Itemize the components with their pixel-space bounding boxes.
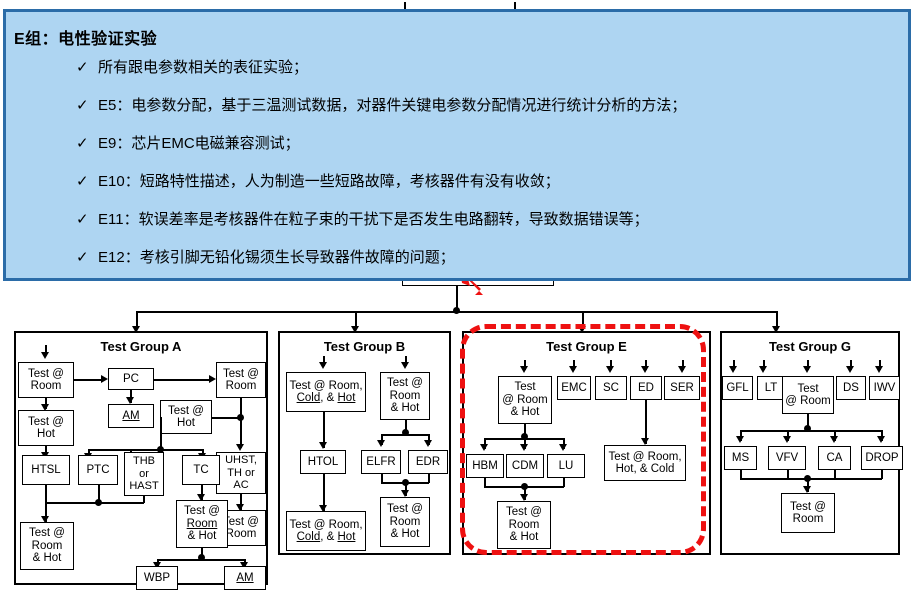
node-a-test-hot-1: Test @ Hot	[18, 410, 74, 446]
arw	[759, 366, 767, 373]
list-item: ✓ E5：电参数分配，基于三温测试数据，对器件关键电参数分配情况进行统计分析的方…	[6, 87, 908, 125]
node-g-test-room-1: Test @ Room	[782, 376, 834, 414]
node-a-htsl: HTSL	[22, 455, 70, 485]
check-icon: ✓	[76, 87, 98, 125]
list-item: ✓ 所有跟电参数相关的表征实验；	[6, 49, 908, 87]
ln	[740, 478, 882, 480]
ln	[88, 449, 204, 451]
node-g-vfv: VFV	[768, 446, 806, 470]
node-e-test-room-hot-cold: Test @ Room, Hot, & Cold	[604, 445, 686, 481]
arw	[101, 375, 108, 383]
node-b-test-room-hot-2: Test @ Room & Hot	[380, 497, 430, 547]
node-label-line: Test @ Room,	[608, 451, 681, 464]
list-item-label: 所有跟电参数相关的表征实验；	[98, 49, 308, 87]
group-a-title: Test Group A	[16, 339, 266, 354]
node-a-thb-hast: THB or HAST	[124, 452, 164, 496]
bus-horizontal	[136, 311, 776, 313]
node-g-iwv: IWV	[869, 376, 900, 400]
arw	[559, 444, 567, 451]
node-g-gfl: GFL	[722, 376, 753, 400]
arw	[641, 366, 649, 373]
arw	[830, 436, 838, 443]
overlay-annotation-panel: E组：电性验证实验 ✓ 所有跟电参数相关的表征实验； ✓ E5：电参数分配，基于…	[3, 9, 911, 281]
node-g-drop: DROP	[861, 446, 903, 470]
arw	[126, 397, 134, 404]
node-a-am-2: AM	[224, 566, 266, 590]
node-label-line: Test @ Room,	[289, 380, 362, 393]
check-icon: ✓	[76, 125, 98, 163]
check-icon: ✓	[76, 239, 98, 277]
panel-heading: E组：电性验证实验	[14, 25, 908, 49]
node-label: AM	[236, 572, 253, 585]
list-item-label: E5：电参数分配，基于三温测试数据，对器件关键电参数分配情况进行统计分析的方法；	[98, 87, 686, 125]
ln	[74, 379, 103, 381]
node-g-ca: CA	[818, 446, 851, 470]
group-b-title: Test Group B	[280, 339, 449, 354]
list-item: ✓ E9：芯片EMC电磁兼容测试；	[6, 125, 908, 163]
ln	[45, 345, 47, 354]
node-label: AM	[122, 410, 139, 423]
node-label-line: Test @	[184, 505, 220, 518]
arw	[678, 366, 686, 373]
check-icon: ✓	[76, 49, 98, 87]
node-g-ds: DS	[836, 376, 866, 400]
node-e-lu: LU	[547, 454, 585, 478]
bus-drop-b	[355, 311, 357, 327]
node-e-sc: SC	[595, 376, 627, 400]
ln	[240, 398, 242, 448]
group-g-title: Test Group G	[722, 339, 898, 354]
list-item-label: E12：考核引脚无铅化锡须生长导致器件故障的问题；	[98, 239, 455, 277]
arw	[846, 366, 854, 373]
group-e-title: Test Group E	[464, 339, 709, 354]
node-b-test-room-cold-hot-2: Test @ Room, Cold, & Hot	[286, 511, 366, 551]
arw	[641, 438, 649, 445]
list-item: ✓ E11：软误差率是考核器件在粒子束的干扰下是否发生电路翻转，导致数据错误等；	[6, 201, 908, 239]
node-b-test-room-hot-1: Test @ Room & Hot	[380, 372, 430, 420]
ln	[157, 559, 245, 561]
node-e-emc: EMC	[557, 376, 591, 400]
node-a-test-room-hot-1: Test @ Room & Hot	[20, 522, 74, 570]
list-item-label: E11：软误差率是考核器件在粒子束的干扰下是否发生电路翻转，导致数据错误等；	[98, 201, 649, 239]
arw	[877, 436, 885, 443]
node-label-line: Test @ Room,	[289, 519, 362, 532]
list-item: ✓ E12：考核引脚无铅化锡须生长导致器件故障的问题；	[6, 239, 908, 277]
node-a-uhst-th-ac: UHST, TH or AC	[216, 452, 266, 494]
node-a-am-1: AM	[108, 404, 154, 428]
list-item-label: E10：短路特性描述，人为制造一些短路故障，考核器件有没有收敛；	[98, 163, 560, 201]
node-b-edr: EDR	[408, 450, 448, 474]
arw	[729, 366, 737, 373]
arw	[606, 366, 614, 373]
node-e-hbm: HBM	[466, 454, 504, 478]
arw	[401, 362, 409, 369]
arw	[424, 440, 432, 447]
list-item-label: E9：芯片EMC电磁兼容测试；	[98, 125, 300, 163]
arw	[520, 366, 528, 373]
ln	[154, 379, 211, 381]
node-e-cdm: CDM	[506, 454, 544, 478]
node-e-test-room-hot-2: Test @ Room & Hot	[497, 501, 551, 549]
node-e-ed: ED	[630, 376, 662, 400]
node-a-test-room-2: Test @ Room	[216, 362, 266, 398]
node-a-pc: PC	[108, 368, 154, 390]
node-a-test-room-hot-2: Test @ Room & Hot	[176, 500, 228, 548]
node-e-ser: SER	[664, 376, 700, 400]
node-e-test-room-hot-1: Test @ Room & Hot	[498, 376, 552, 424]
ln	[740, 430, 882, 432]
arw	[569, 366, 577, 373]
arw	[803, 366, 811, 373]
node-b-elfr: ELFR	[361, 450, 401, 474]
node-b-htol: HTOL	[300, 450, 346, 474]
arw	[520, 444, 528, 451]
bus-drop-a	[136, 311, 138, 327]
arw	[209, 375, 216, 383]
arw	[377, 440, 385, 447]
arw	[236, 444, 244, 451]
node-a-test-room-1: Test @ Room	[18, 362, 74, 398]
arw	[783, 436, 791, 443]
list-item: ✓ E10：短路特性描述，人为制造一些短路故障，考核器件有没有收敛；	[6, 163, 908, 201]
ln	[381, 434, 429, 436]
arw	[319, 362, 327, 369]
arw	[736, 436, 744, 443]
node-a-tc: TC	[182, 455, 220, 485]
node-label-line: Room	[187, 518, 218, 531]
check-icon: ✓	[76, 163, 98, 201]
node-label-line: Hot, & Cold	[616, 463, 675, 476]
arw	[875, 366, 883, 373]
bus-drop-e	[582, 311, 584, 327]
node-a-ptc: PTC	[78, 455, 118, 485]
node-b-test-room-cold-hot-1: Test @ Room, Cold, & Hot	[286, 372, 366, 412]
bus-drop-g	[776, 311, 778, 327]
arw	[480, 444, 488, 451]
arw	[319, 442, 327, 449]
panel-item-list: ✓ 所有跟电参数相关的表征实验； ✓ E5：电参数分配，基于三温测试数据，对器件…	[6, 49, 908, 277]
node-a-wbp: WBP	[136, 566, 178, 590]
node-label-line: Cold, & Hot	[297, 531, 356, 544]
check-icon: ✓	[76, 201, 98, 239]
node-label-line: Cold, & Hot	[297, 392, 356, 405]
node-a-test-hot-2: Test @ Hot	[160, 400, 212, 434]
node-label-line: & Hot	[188, 530, 217, 543]
dot	[95, 499, 102, 506]
node-g-lt: LT	[757, 376, 785, 400]
node-g-test-room-2: Test @ Room	[781, 493, 835, 533]
arw	[803, 486, 811, 493]
arw	[401, 490, 409, 497]
arw	[520, 494, 528, 501]
node-g-ms: MS	[724, 446, 757, 470]
